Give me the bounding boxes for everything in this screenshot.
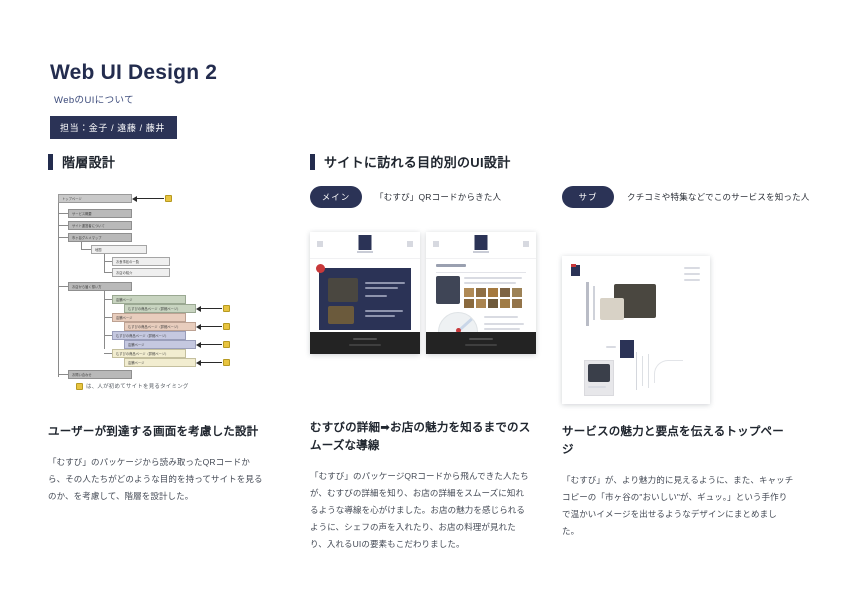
sitemap-branch-line [58, 286, 68, 287]
persona-row-main: メイン 「むすび」QRコードからきた人 [310, 186, 542, 208]
dish-photo [488, 288, 498, 297]
placeholder-text-line [365, 315, 395, 317]
dish-photo [488, 299, 498, 308]
sitemap-diagram: トップページ サービス概要 サイト運営者について 市ヶ谷グルメマップ 地図 お食… [48, 186, 248, 386]
sitemap-node: お問い合わせ [68, 370, 132, 379]
sitemap-branch-line [104, 261, 112, 262]
sitemap-node: お食事処の一覧 [112, 257, 170, 266]
sitemap-node: 市ヶ谷グルメマップ [68, 233, 132, 242]
sitemap-legend-label: は、人が初めてサイトを見るタイミング [86, 382, 189, 390]
sitemap-branch-line [58, 374, 68, 375]
sitemap-node: サイト運営者について [68, 221, 132, 230]
caption-hierarchy: ユーザーが到達する画面を考慮した設計 「むすび」のパッケージから読み取ったQRコ… [48, 424, 266, 505]
sitemap-node: 店舗ページ [124, 358, 196, 367]
persona-row-sub: サブ クチコミや特集などでこのサービスを知った人 [562, 186, 797, 208]
card-body: 「むすび」が、より魅力的に見えるように、また、キャッチコピーの「市ヶ谷の"おいし… [562, 472, 794, 540]
article-thumbnail[interactable] [584, 360, 614, 396]
section-title-hierarchy: 階層設計 [62, 152, 115, 171]
persona-pill-main: メイン [310, 186, 362, 208]
sitemap-node: お店から届く想い方 [68, 282, 132, 291]
mockup-group-main [310, 232, 542, 354]
sitemap-node: 店舗ページ [112, 313, 186, 322]
decorative-curve [654, 360, 683, 383]
brand-logo-icon [475, 235, 488, 250]
chef-photo [436, 276, 460, 304]
section-label [436, 264, 466, 267]
placeholder-text-line [588, 386, 606, 388]
product-photo [328, 306, 354, 324]
caption-main-flow: むすびの詳細➡お店の魅力を知るまでのスムーズな導線 「むすび」のパッケージQRコ… [310, 420, 532, 553]
cart-icon [407, 241, 413, 247]
placeholder-text-line [465, 344, 497, 346]
nav-link[interactable] [684, 273, 700, 275]
dish-photo [464, 288, 474, 297]
entry-star-icon [223, 341, 230, 348]
divider [436, 272, 526, 273]
placeholder-text-line [484, 328, 520, 330]
brand-seal-icon [620, 340, 634, 358]
hierarchy-column: トップページ サービス概要 サイト運営者について 市ヶ谷グルメマップ 地図 お食… [48, 186, 263, 386]
brand-logo-icon [359, 235, 372, 250]
placeholder-text-line [365, 282, 405, 284]
sitemap-node: トップページ [58, 194, 132, 203]
brand-wordmark [473, 251, 489, 253]
placeholder-text-line [365, 287, 398, 289]
sitemap-entry-arrow [200, 344, 222, 345]
sitemap-node: むすびの商品ページ（詳細ページ） [124, 304, 196, 313]
section-title-purpose: サイトに訪れる目的別のUI設計 [324, 152, 511, 171]
placeholder-text-line [484, 323, 524, 325]
placeholder-text-line [469, 338, 493, 340]
purpose-main-column: メイン 「むすび」QRコードからきた人 [310, 186, 542, 354]
sitemap-branch-line [104, 299, 112, 300]
caption-top-page: サービスの魅力と要点を伝えるトップページ 「むすび」が、より魅力的に見えるように… [562, 424, 794, 540]
placeholder-text-line [353, 338, 377, 340]
card-body: 「むすび」のパッケージから読み取ったQRコードから、その人たちがどのような目的を… [48, 454, 266, 505]
mockup-group-sub [562, 232, 797, 404]
vertical-catchcopy [593, 286, 595, 320]
hero-photo-secondary [600, 298, 624, 320]
notification-badge [316, 264, 325, 273]
sitemap-branch-line [104, 335, 112, 336]
sitemap-branch-line [58, 213, 68, 214]
persona-desc-main: 「むすび」QRコードからきた人 [375, 191, 501, 203]
dish-photo [500, 299, 510, 308]
vertical-text-line [642, 356, 643, 386]
page-title: Web UI Design 2 [50, 60, 217, 85]
entry-star-icon [223, 305, 230, 312]
mockup-hero-panel [319, 268, 411, 330]
entry-star-icon [165, 195, 172, 202]
sitemap-node: むすびの商品ページ（詳細ページ） [112, 349, 186, 358]
persona-pill-sub: サブ [562, 186, 614, 208]
vertical-text-line [648, 354, 649, 388]
mockup-detail-page[interactable] [310, 232, 420, 354]
accent-bar-icon [48, 154, 53, 170]
page-subtitle: WebのUIについて [54, 92, 217, 106]
cart-icon [523, 241, 529, 247]
placeholder-text-line [365, 295, 387, 297]
article-photo [588, 364, 610, 382]
sitemap-branch-line [104, 272, 112, 273]
purpose-sub-column: サブ クチコミや特集などでこのサービスを知った人 [562, 186, 797, 404]
dish-photo [512, 288, 522, 297]
sitemap-node: お店の紹介 [112, 268, 170, 277]
dish-photo [500, 288, 510, 297]
brand-wordmark [357, 251, 373, 253]
section-heading-purpose: サイトに訪れる目的別のUI設計 [310, 152, 511, 171]
sitemap-branch-line [58, 225, 68, 226]
sitemap-entry-arrow [200, 362, 222, 363]
sitemap-node: 店舗ページ [112, 295, 186, 304]
sitemap-node: 店舗ページ [124, 340, 196, 349]
sitemap-node: 地図 [91, 245, 147, 254]
mockup-topbar [426, 232, 536, 259]
dish-photo [476, 288, 486, 297]
sitemap-entry-arrow [200, 326, 222, 327]
persona-desc-sub: クチコミや特集などでこのサービスを知った人 [627, 191, 810, 203]
sitemap-branch-line [104, 353, 112, 354]
sitemap-trunk-line [58, 200, 59, 377]
sitemap-branch-line [81, 249, 91, 250]
logo-accent [571, 264, 576, 267]
mockup-shop-page[interactable] [426, 232, 536, 354]
mockup-footer [426, 332, 536, 354]
sitemap-node: むすびの商品ページ（詳細ページ） [124, 322, 196, 331]
sitemap-branch-line [104, 317, 112, 318]
sitemap-entry-arrow [136, 198, 164, 199]
sitemap-node: サービス概要 [68, 209, 132, 218]
sitemap-legend: は、人が初めてサイトを見るタイミング [76, 382, 189, 390]
card-body: 「むすび」のパッケージQRコードから飛んできた人たちが、むすびの詳細を知り、お店… [310, 468, 532, 553]
card-title: サービスの魅力と要点を伝えるトップページ [562, 424, 794, 460]
page-header: Web UI Design 2 WebのUIについて 担当：金子 / 遠藤 / … [50, 60, 217, 139]
nav-link[interactable] [684, 279, 700, 281]
vertical-text-line [636, 352, 637, 390]
mockup-footer [310, 332, 420, 354]
owner-badge: 担当：金子 / 遠藤 / 藤井 [50, 116, 177, 139]
placeholder-text-line [464, 282, 516, 284]
placeholder-text-line [606, 346, 616, 348]
menu-icon [433, 241, 439, 247]
sitemap-node: むすびの商品ページ（詳細ページ） [112, 331, 186, 340]
placeholder-text-line [464, 277, 522, 279]
accent-bar-icon [310, 154, 315, 170]
dish-photo [464, 299, 474, 308]
card-title: むすびの詳細➡お店の魅力を知るまでのスムーズな導線 [310, 420, 532, 456]
sitemap-branch-line [104, 254, 105, 273]
mockup-top-page[interactable] [562, 256, 710, 404]
vertical-catchcopy [586, 282, 589, 326]
product-photo [328, 278, 358, 302]
dish-photo-grid [464, 288, 522, 308]
nav-link[interactable] [684, 267, 700, 269]
section-heading-hierarchy: 階層設計 [48, 152, 115, 171]
sitemap-branch-line [81, 242, 82, 249]
placeholder-text-line [484, 316, 518, 318]
entry-star-icon [223, 323, 230, 330]
entry-star-icon [223, 359, 230, 366]
card-title: ユーザーが到達する画面を考慮した設計 [48, 424, 266, 442]
entry-star-icon [76, 383, 83, 390]
placeholder-text-line [365, 310, 403, 312]
placeholder-text-line [349, 344, 381, 346]
mockup-topbar [310, 232, 420, 259]
sitemap-branch-line [58, 237, 68, 238]
menu-icon [317, 241, 323, 247]
dish-photo [476, 299, 486, 308]
sitemap-entry-arrow [200, 308, 222, 309]
dish-photo [512, 299, 522, 308]
